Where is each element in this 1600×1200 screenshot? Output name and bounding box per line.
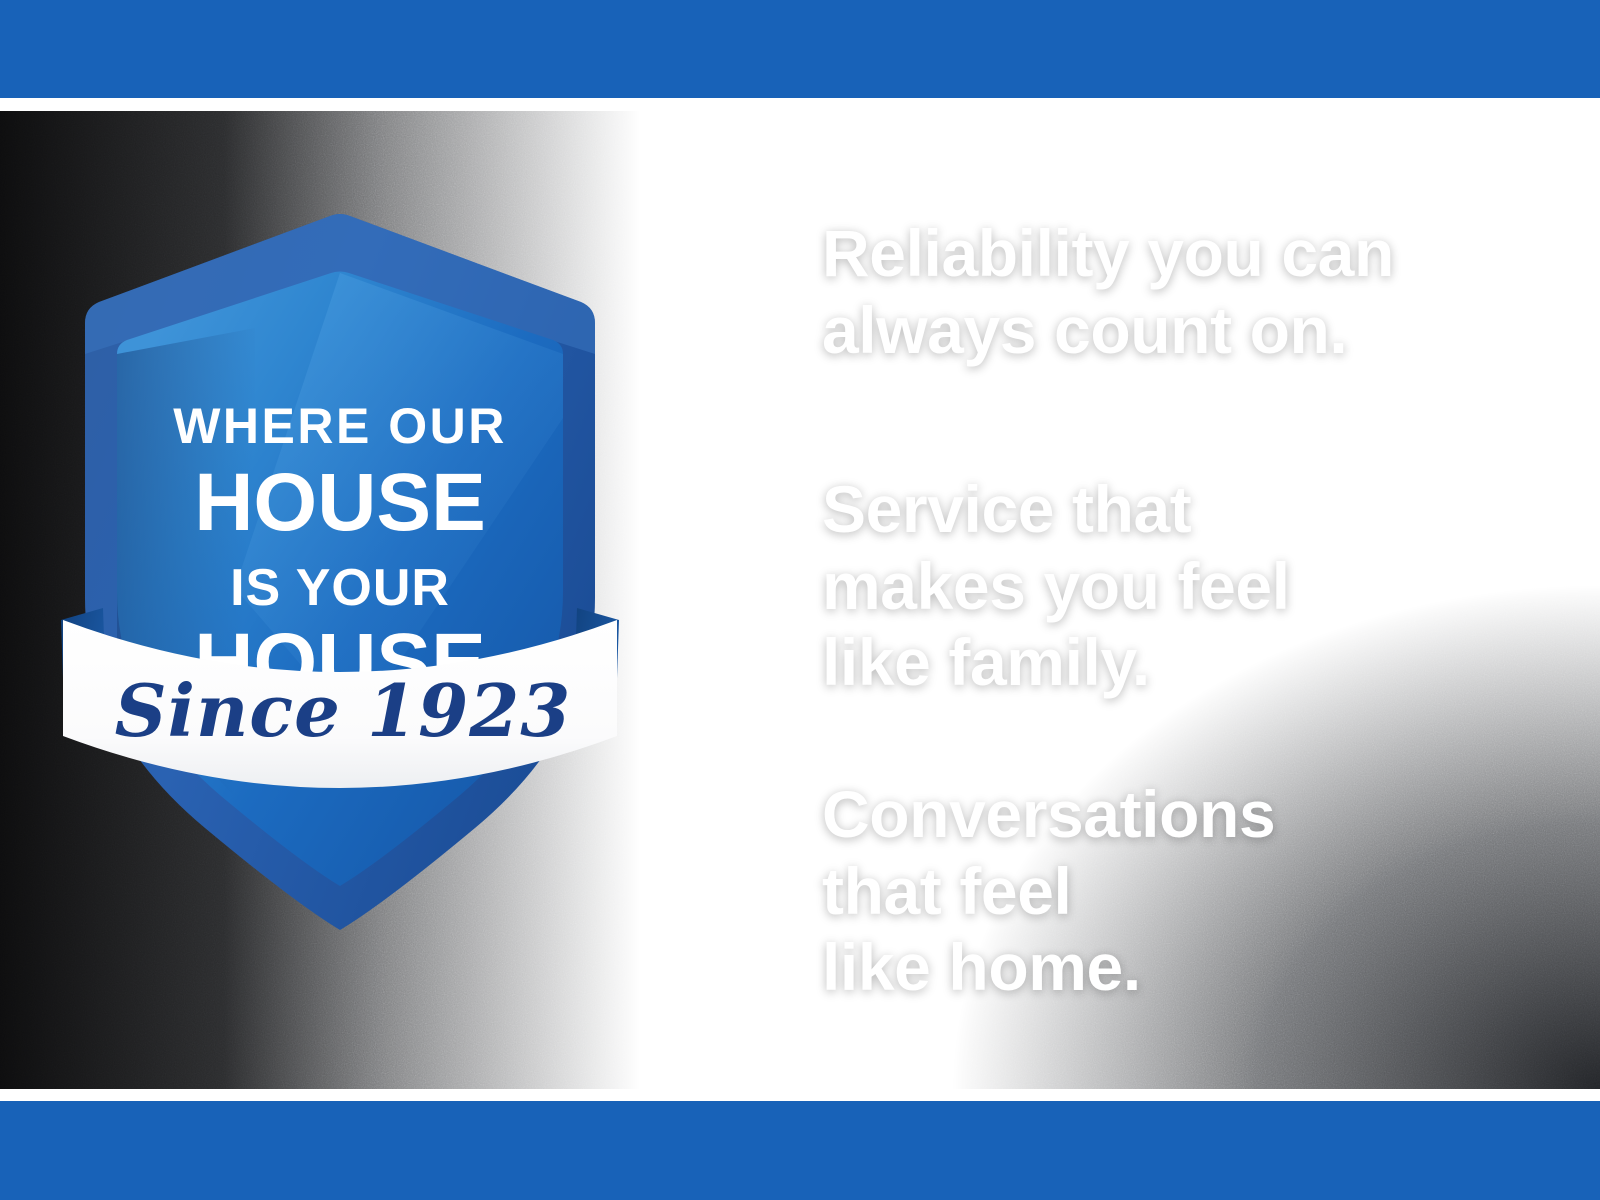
benefit-item-conversations: Conversations that feel like home. — [672, 776, 1572, 1006]
badge-line-2: HOUSE — [194, 457, 486, 548]
benefit-item-service: Service that makes you feel like family. — [672, 471, 1572, 701]
badge-line-1: WHERE OUR — [173, 398, 507, 454]
shield-badge: WHERE OUR HOUSE IS YOUR HOUSE Since 1923 — [55, 168, 625, 958]
bottom-bar-divider — [0, 1089, 1600, 1101]
benefit-text: Conversations that feel like home. — [822, 776, 1572, 1006]
top-bar-divider — [0, 98, 1600, 111]
bottom-brand-bar — [0, 1101, 1600, 1200]
benefits-list: Reliability you can always count on. Ser… — [672, 111, 1572, 1089]
promotional-graphic: WHERE OUR HOUSE IS YOUR HOUSE Since 1923… — [0, 0, 1600, 1200]
checkmark-icon — [672, 215, 822, 337]
checkmark-icon — [672, 471, 822, 593]
benefit-text: Service that makes you feel like family. — [822, 471, 1572, 701]
top-brand-bar — [0, 0, 1600, 98]
benefit-item-reliability: Reliability you can always count on. — [672, 215, 1572, 368]
benefit-text: Reliability you can always count on. — [822, 215, 1572, 368]
ribbon-since-text: Since 1923 — [115, 668, 572, 753]
badge-line-3: IS YOUR — [230, 559, 450, 617]
checkmark-icon — [672, 776, 822, 898]
